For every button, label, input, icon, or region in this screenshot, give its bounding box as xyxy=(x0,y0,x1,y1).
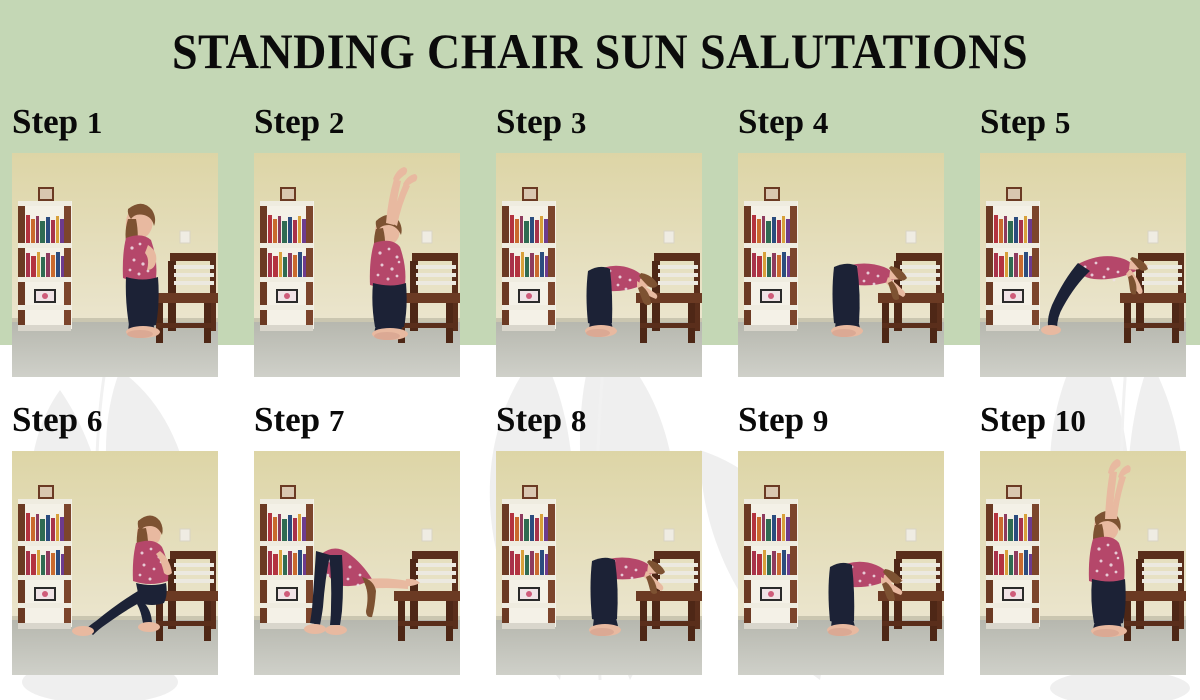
step-photo-2 xyxy=(254,153,460,377)
step-photo-1 xyxy=(12,153,218,377)
step-cell-2: Step 2 xyxy=(254,104,460,377)
step-label-9: Step 9 xyxy=(738,402,944,451)
step-cell-10: Step 10 xyxy=(980,402,1186,675)
step-cell-5: Step 5 xyxy=(980,104,1186,377)
step-label-4: Step 4 xyxy=(738,104,944,153)
step-label-3: Step 3 xyxy=(496,104,702,153)
step-photo-8 xyxy=(496,451,702,675)
step-photo-6 xyxy=(12,451,218,675)
step-photo-4 xyxy=(738,153,944,377)
step-cell-3: Step 3 xyxy=(496,104,702,377)
steps-row-bottom: Step 6 xyxy=(12,402,1188,675)
step-photo-9 xyxy=(738,451,944,675)
step-label-7: Step 7 xyxy=(254,402,460,451)
step-photo-10 xyxy=(980,451,1186,675)
step-label-10: Step 10 xyxy=(980,402,1186,451)
step-label-5: Step 5 xyxy=(980,104,1186,153)
step-photo-3 xyxy=(496,153,702,377)
step-cell-8: Step 8 xyxy=(496,402,702,675)
step-label-6: Step 6 xyxy=(12,402,218,451)
step-label-2: Step 2 xyxy=(254,104,460,153)
poster-canvas: STANDING CHAIR SUN SALUTATIONS Step 1 xyxy=(0,0,1200,700)
step-cell-9: Step 9 xyxy=(738,402,944,675)
step-label-8: Step 8 xyxy=(496,402,702,451)
step-photo-7 xyxy=(254,451,460,675)
step-cell-6: Step 6 xyxy=(12,402,218,675)
step-cell-4: Step 4 xyxy=(738,104,944,377)
page-title: STANDING CHAIR SUN SALUTATIONS xyxy=(48,22,1152,80)
step-cell-7: Step 7 xyxy=(254,402,460,675)
step-label-1: Step 1 xyxy=(12,104,218,153)
step-photo-5 xyxy=(980,153,1186,377)
steps-row-top: Step 1 xyxy=(12,104,1188,377)
step-cell-1: Step 1 xyxy=(12,104,218,377)
